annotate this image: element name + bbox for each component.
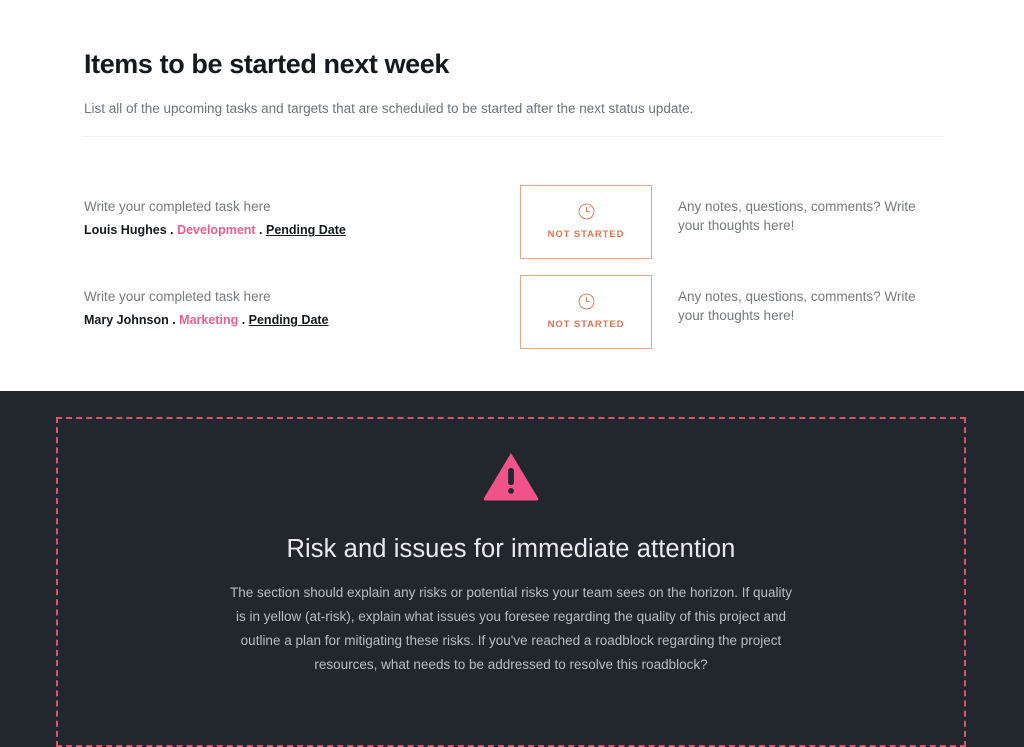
warning-triangle-icon (483, 451, 539, 501)
task-placeholder[interactable]: Write your completed task here (84, 197, 520, 217)
task-details: Write your completed task here Louis Hug… (84, 185, 520, 240)
task-owner: Mary Johnson (84, 313, 169, 327)
task-list: Write your completed task here Louis Hug… (84, 185, 940, 349)
risk-and-issues-section: Risk and issues for immediate attention … (0, 391, 1024, 747)
task-date[interactable]: Pending Date (266, 223, 346, 237)
risk-section-body: The section should explain any risks or … (226, 581, 796, 677)
clock-icon (578, 293, 595, 310)
status-badge-label: NOT STARTED (548, 229, 625, 240)
task-row: Write your completed task here Louis Hug… (84, 185, 940, 259)
task-row: Write your completed task here Mary John… (84, 275, 940, 349)
meta-separator: . (256, 223, 266, 237)
task-notes: Any notes, questions, comments? Write yo… (652, 275, 932, 325)
page-subtitle: List all of the upcoming tasks and targe… (84, 99, 940, 119)
status-badge-label: NOT STARTED (548, 319, 625, 330)
task-date[interactable]: Pending Date (249, 313, 329, 327)
meta-separator: . (238, 313, 248, 327)
status-badge[interactable]: NOT STARTED (520, 275, 652, 349)
meta-separator: . (167, 223, 177, 237)
task-notes: Any notes, questions, comments? Write yo… (652, 185, 932, 235)
risk-section-title: Risk and issues for immediate attention (287, 535, 736, 564)
task-department: Marketing (179, 313, 238, 327)
header-divider (84, 136, 944, 137)
page-title: Items to be started next week (84, 0, 940, 80)
upcoming-items-section: Items to be started next week List all o… (0, 0, 1024, 391)
risk-dashed-container: Risk and issues for immediate attention … (56, 417, 966, 747)
task-note-text[interactable]: Any notes, questions, comments? Write yo… (678, 197, 932, 235)
task-placeholder[interactable]: Write your completed task here (84, 287, 520, 307)
task-details: Write your completed task here Mary John… (84, 275, 520, 330)
task-department: Development (177, 223, 256, 237)
status-report-page: Items to be started next week List all o… (0, 0, 1024, 747)
task-meta: Louis Hughes . Development . Pending Dat… (84, 221, 520, 240)
task-meta: Mary Johnson . Marketing . Pending Date (84, 311, 520, 330)
task-note-text[interactable]: Any notes, questions, comments? Write yo… (678, 287, 932, 325)
task-owner: Louis Hughes (84, 223, 167, 237)
clock-icon (578, 203, 595, 220)
meta-separator: . (169, 313, 179, 327)
status-badge[interactable]: NOT STARTED (520, 185, 652, 259)
